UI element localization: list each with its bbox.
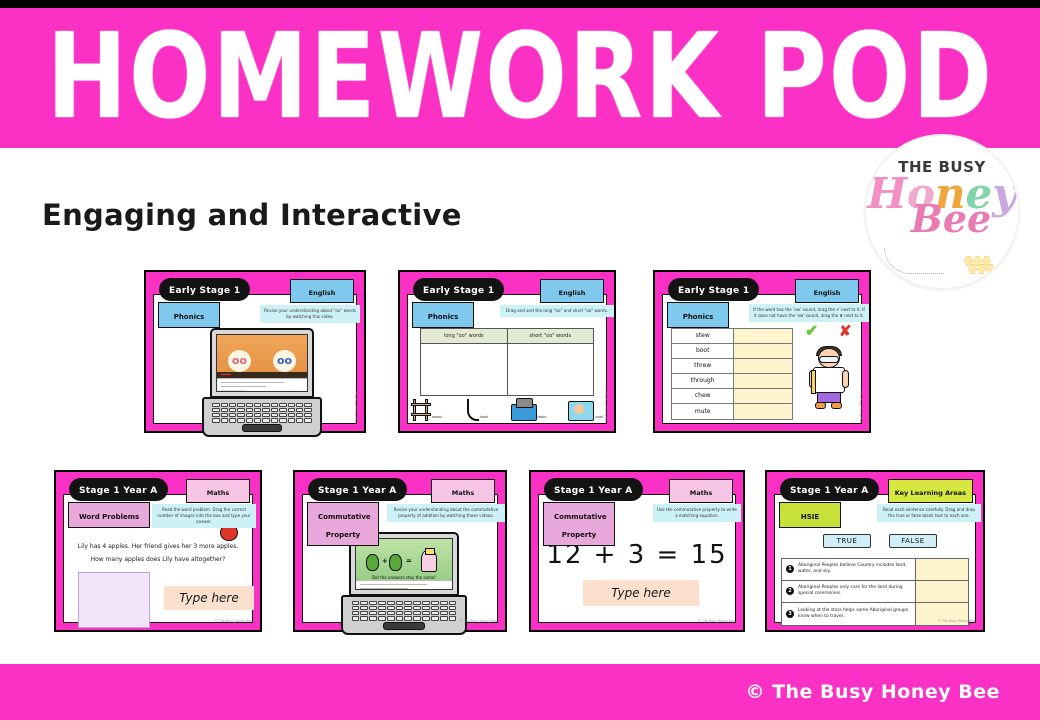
logo-letter-y: y	[992, 169, 1016, 218]
topic-label: HSIE	[779, 502, 841, 528]
stage-badge: Early Stage 1	[413, 278, 504, 301]
slide-thumbnail-4[interactable]: Stage 1 Year A Maths Word Problems Read …	[54, 470, 262, 632]
statement-number: 3	[786, 610, 794, 618]
trackpad-icon	[242, 424, 281, 432]
table-row[interactable]: 1 Aboriginal Peoples believe Country inc…	[782, 559, 968, 581]
word-item-wood[interactable]: wood	[411, 399, 442, 421]
statement-text: Looking at the stars helps some Aborigin…	[798, 608, 912, 621]
answer-cell[interactable]	[734, 329, 792, 343]
sorting-table[interactable]: long "oo" words short "oo" words	[420, 328, 594, 396]
hook-icon	[467, 399, 479, 421]
statement-text: Aboriginal Peoples only care for the lan…	[798, 585, 912, 598]
page-title: HOMEWORK POD	[46, 19, 993, 137]
slide-credit: © The Busy Honey Bee	[604, 387, 608, 423]
slide-credit: © The Busy Honey Bee	[354, 387, 358, 423]
word-cell: through	[672, 374, 734, 388]
word-cell: mute	[672, 404, 734, 419]
word-cell: boot	[672, 344, 734, 358]
word-cell: threw	[672, 359, 734, 373]
statements-table[interactable]: 1 Aboriginal Peoples believe Country inc…	[781, 558, 969, 626]
keyboard-icon	[352, 601, 457, 621]
word-label: hook	[480, 415, 489, 421]
subject-tag: Maths	[669, 479, 733, 503]
instruction-bubble: Read the word problem. Drag the correct …	[152, 504, 256, 528]
table-row[interactable]: 2 Aboriginal Peoples only care for the l…	[782, 581, 968, 603]
word-label: tools	[538, 415, 547, 421]
slide-thumbnail-1[interactable]: Early Stage 1 English Phonics Revise you…	[144, 270, 366, 433]
word-list-table[interactable]: stew boot threw through chew mute	[671, 328, 793, 420]
glasses-icon	[819, 356, 839, 363]
subject-tag: English	[795, 279, 859, 303]
section-heading: Engaging and Interactive	[42, 198, 462, 232]
equals-sign: =	[406, 557, 412, 565]
answer-input[interactable]: Type here	[583, 580, 699, 606]
word-item-pool[interactable]: pool	[568, 401, 603, 421]
stage-badge: Stage 1 Year A	[780, 478, 879, 501]
word-item-hook[interactable]: hook	[464, 399, 489, 421]
topic-label: Commutative Property	[307, 502, 379, 546]
slide-credit: © The Busy Honey Bee	[460, 619, 497, 623]
word-image-row[interactable]: wood hook tools pool	[411, 387, 603, 421]
subject-tag: Key Learning Areas	[888, 479, 973, 503]
page-root: HOMEWORK POD THE BUSY Honey Bee Engaging…	[0, 0, 1040, 720]
statement-number: 2	[786, 587, 794, 595]
oo-right-text: oo	[277, 354, 292, 367]
pencil-icon	[811, 370, 816, 394]
video-metadata	[356, 580, 452, 589]
answer-cell[interactable]	[734, 344, 792, 358]
logo-letter-h: H	[867, 169, 907, 218]
footer-bar: © The Busy Honey Bee	[0, 664, 1040, 720]
pool-icon	[568, 401, 594, 421]
slide-thumbnail-6[interactable]: Stage 1 Year A Maths Commutative Propert…	[529, 470, 745, 632]
topic-label: Phonics	[158, 302, 220, 328]
word-label: pool	[595, 415, 603, 421]
word-cell: stew	[672, 329, 734, 343]
answer-cell[interactable]	[734, 359, 792, 373]
false-button[interactable]: FALSE	[889, 534, 937, 548]
column-header-short: short "oo" words	[508, 329, 594, 344]
honeycomb-icon	[964, 256, 998, 272]
slide-credit: © The Busy Honey Bee	[938, 619, 975, 623]
video-player[interactable]: oo oo	[216, 334, 308, 392]
header-banner: HOMEWORK POD	[0, 8, 1040, 148]
slide-credit: © The Busy Honey Bee	[698, 619, 735, 623]
answer-cell[interactable]	[734, 389, 792, 403]
logo-bee-text: Bee	[911, 202, 991, 236]
subject-tag: Maths	[431, 479, 495, 503]
slide-thumbnail-2[interactable]: Early Stage 1 English Phonics Drag and s…	[398, 270, 616, 433]
slide-credit: © The Busy Honey Bee	[215, 619, 252, 623]
instruction-bubble: Read each sentence carefully. Drag and d…	[877, 504, 981, 522]
instruction-bubble: Drag and sort the long "oo" and short "o…	[500, 305, 614, 317]
word-problem-line-2: How many apples does Lily have altogethe…	[70, 555, 246, 566]
statement-text: Aboriginal Peoples believe Country inclu…	[798, 563, 912, 576]
topic-label: Word Problems	[68, 502, 150, 528]
subject-tag: Maths	[186, 479, 250, 503]
copyright-text: © The Busy Honey Bee	[745, 681, 1000, 703]
stage-badge: Stage 1 Year A	[544, 478, 643, 501]
toolbox-icon	[511, 404, 537, 421]
cross-mark-icon[interactable]: ✘	[839, 324, 852, 339]
keyboard-icon	[212, 403, 312, 423]
answer-cell[interactable]	[734, 374, 792, 388]
student-illustration	[809, 348, 849, 410]
oo-left-text: oo	[232, 354, 247, 367]
check-mark-icon[interactable]: ✔	[805, 324, 818, 340]
statement-number: 1	[786, 565, 794, 573]
table-header-row: long "oo" words short "oo" words	[421, 329, 593, 344]
laptop-illustration: oo oo	[202, 328, 322, 437]
topic-label: Phonics	[667, 302, 729, 328]
plus-sign: +	[382, 557, 388, 565]
answer-drop-cell[interactable]	[916, 559, 968, 580]
instruction-bubble: Use the commutative property to write a …	[653, 504, 741, 522]
answer-drop-cell[interactable]	[916, 581, 968, 602]
brand-logo: THE BUSY Honey Bee	[866, 136, 1018, 288]
answer-cell[interactable]	[734, 404, 792, 419]
trackpad-icon	[383, 622, 424, 630]
image-drop-box[interactable]	[78, 572, 150, 628]
true-button[interactable]: TRUE	[823, 534, 871, 548]
subject-tag: English	[540, 279, 604, 303]
slide-credit: © The Busy Honey Bee	[859, 387, 863, 423]
word-label: wood	[432, 415, 442, 421]
instruction-bubble: Revise your understanding about the comm…	[387, 504, 505, 522]
slide-thumbnail-5[interactable]: Stage 1 Year A Maths Commutative Propert…	[293, 470, 507, 632]
stage-badge: Early Stage 1	[159, 278, 250, 301]
instruction-bubble: If the word has the 'ew' sound, drag the…	[749, 304, 869, 322]
word-cell: chew	[672, 389, 734, 403]
topic-label: Phonics	[412, 302, 474, 328]
topic-label: Commutative Property	[543, 502, 615, 546]
logo-swirl-icon	[884, 248, 944, 274]
instruction-bubble: Revise your understanding about "oo" wor…	[260, 305, 360, 323]
video-metadata	[217, 378, 307, 391]
slide-thumbnail-3[interactable]: Early Stage 1 English Phonics If the wor…	[653, 270, 871, 433]
word-item-tools[interactable]: tools	[511, 404, 547, 421]
answer-input[interactable]: Type here	[164, 586, 254, 610]
laptop-illustration: + = But the answers stay the same!	[341, 532, 467, 635]
stage-badge: Early Stage 1	[668, 278, 759, 301]
column-header-long: long "oo" words	[421, 329, 508, 344]
stage-badge: Stage 1 Year A	[308, 478, 407, 501]
stage-badge: Stage 1 Year A	[69, 478, 168, 501]
word-problem-line-1: Lily has 4 apples. Her friend gives her …	[70, 542, 246, 553]
wood-icon	[411, 399, 431, 421]
subject-tag: English	[290, 279, 354, 303]
slide-thumbnail-7[interactable]: Stage 1 Year A Key Learning Areas HSIE R…	[765, 470, 985, 632]
